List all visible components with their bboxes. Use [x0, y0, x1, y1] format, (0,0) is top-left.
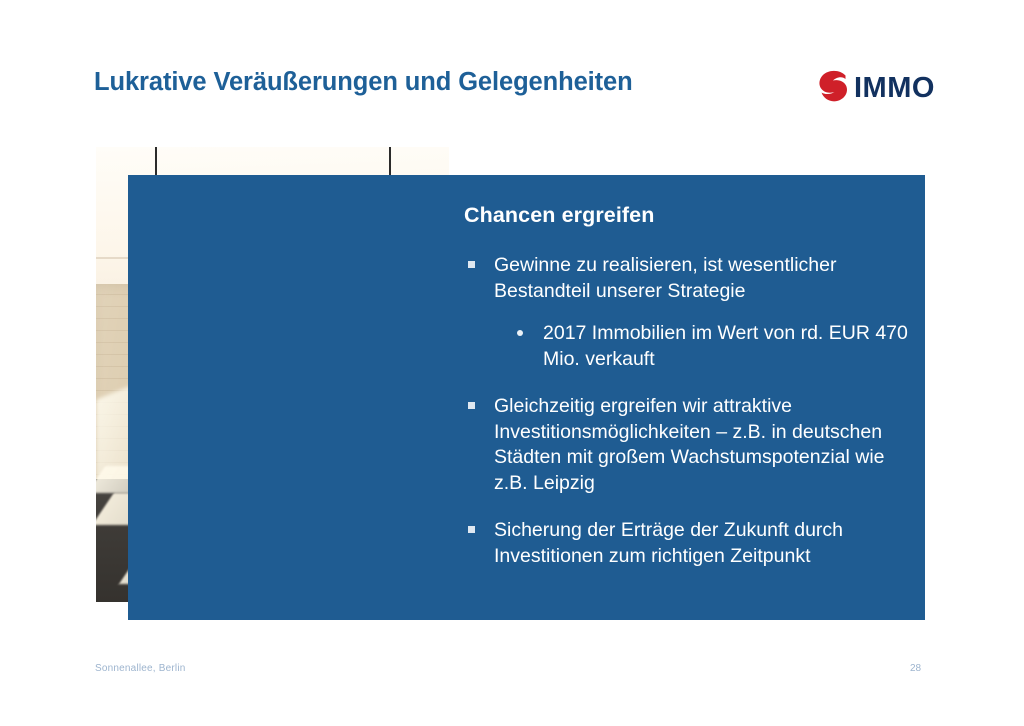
dot-bullet-icon: [517, 330, 523, 336]
panel-heading: Chancen ergreifen: [464, 203, 654, 228]
square-bullet-icon: [468, 526, 475, 533]
s-immo-swirl-mark-icon: [812, 66, 856, 110]
list-item: Gewinne zu realisieren, ist wesentlicher…: [461, 253, 917, 304]
content-panel: Chancen ergreifen Gewinne zu realisieren…: [128, 175, 925, 620]
photo-caption: Sonnenallee, Berlin: [95, 663, 186, 674]
list-item-text: 2017 Immobilien im Wert von rd. EUR 470 …: [543, 322, 908, 370]
logo-text: IMMO: [854, 74, 935, 103]
list-item-text: Gewinne zu realisieren, ist wesentlicher…: [494, 254, 837, 302]
square-bullet-icon: [468, 261, 475, 268]
square-bullet-icon: [468, 402, 475, 409]
company-logo: IMMO: [812, 64, 930, 112]
list-item: 2017 Immobilien im Wert von rd. EUR 470 …: [461, 321, 917, 372]
page-number: 28: [910, 663, 921, 674]
page-title: Lukrative Veräußerungen und Gelegenheite…: [94, 68, 794, 97]
list-item: Sicherung der Erträge der Zukunft durch …: [461, 518, 917, 569]
content-panel-text-area: Chancen ergreifen Gewinne zu realisieren…: [449, 175, 925, 620]
bullet-list: Gewinne zu realisieren, ist wesentlicher…: [461, 253, 917, 586]
presentation-slide: Lukrative Veräußerungen und Gelegenheite…: [0, 0, 1024, 726]
list-item-text: Gleichzeitig ergreifen wir attraktive In…: [494, 395, 885, 494]
list-item: Gleichzeitig ergreifen wir attraktive In…: [461, 394, 917, 496]
list-item-text: Sicherung der Erträge der Zukunft durch …: [494, 519, 843, 567]
